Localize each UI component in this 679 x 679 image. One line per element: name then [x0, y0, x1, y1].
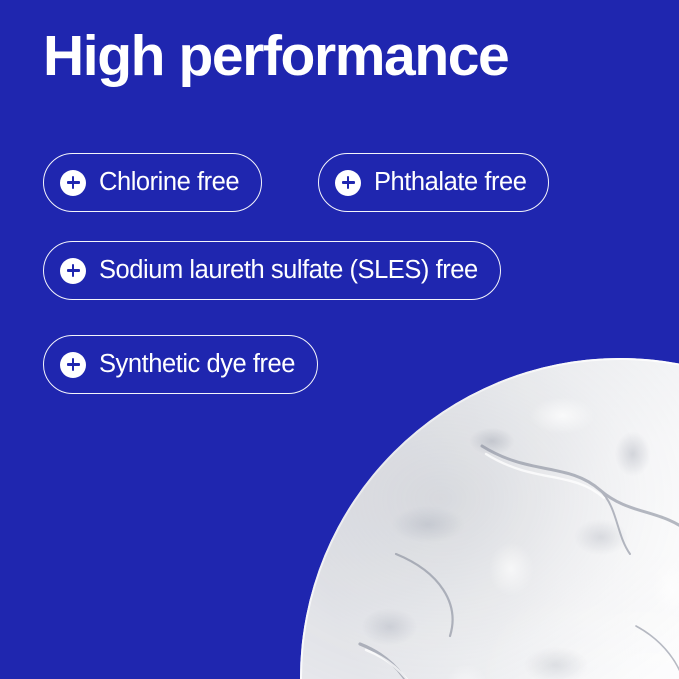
benefit-pill-label: Phthalate free — [374, 170, 526, 196]
plus-circle-icon — [335, 170, 361, 196]
benefit-pill-label: Synthetic dye free — [99, 352, 295, 378]
benefit-pill-phthalate-free[interactable]: Phthalate free — [318, 153, 549, 212]
page-title: High performance — [43, 27, 508, 87]
benefit-pill-sles-free[interactable]: Sodium laureth sulfate (SLES) free — [43, 241, 501, 300]
benefit-pill-chlorine-free[interactable]: Chlorine free — [43, 153, 262, 212]
product-photo — [300, 358, 679, 679]
plus-circle-icon — [60, 352, 86, 378]
jar-rim-highlight — [300, 358, 679, 679]
benefit-pill-label: Sodium laureth sulfate (SLES) free — [99, 258, 478, 284]
plus-circle-icon — [60, 170, 86, 196]
benefit-pill-synthetic-dye-free[interactable]: Synthetic dye free — [43, 335, 318, 394]
benefit-pill-label: Chlorine free — [99, 170, 239, 196]
plus-circle-icon — [60, 258, 86, 284]
promo-banner: High performance Chlorine free Phthalate… — [0, 0, 679, 679]
